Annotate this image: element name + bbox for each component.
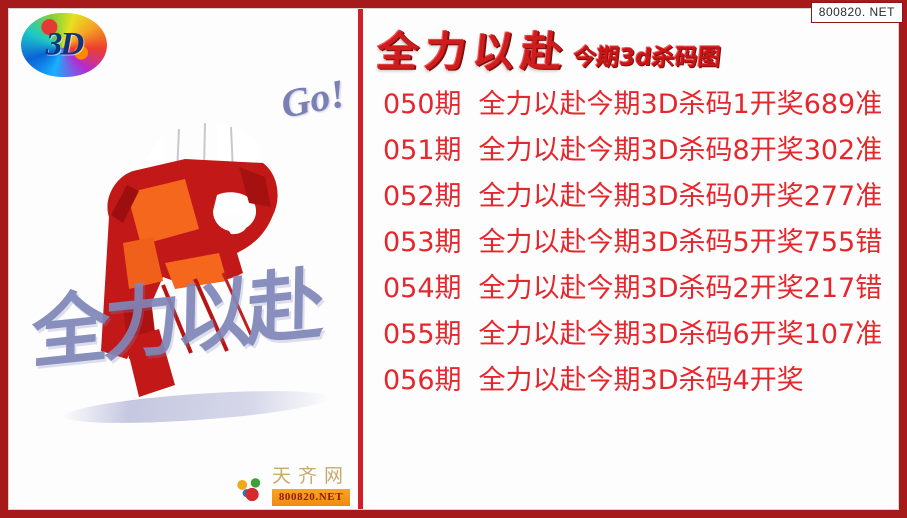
row-period: 053期 (383, 229, 462, 256)
table-row: 051期 全力以赴今期3D杀码8开奖302准 (383, 127, 894, 173)
right-list-panel: 全力以赴 今期3d杀码图 050期 全力以赴今期3D杀码1开奖689准 051期… (363, 9, 898, 509)
table-row: 053期 全力以赴今期3D杀码5开奖755错 (383, 219, 894, 265)
row-period: 051期 (383, 137, 462, 164)
row-description: 全力以赴今期3D杀码8开奖302准 (479, 137, 883, 164)
row-description: 全力以赴今期3D杀码2开奖217错 (479, 275, 883, 302)
row-description: 全力以赴今期3D杀码4开奖 (479, 367, 804, 394)
panel-title: 全力以赴 今期3d杀码图 (377, 15, 892, 73)
row-period: 054期 (383, 275, 462, 302)
site-watermark: 800820. NET (811, 2, 903, 23)
panel-divider (358, 9, 363, 509)
site-name-label: 天齐网 (272, 467, 350, 486)
row-description: 全力以赴今期3D杀码5开奖755错 (479, 229, 883, 256)
row-period: 050期 (383, 91, 462, 118)
title-main-text: 全力以赴 (375, 32, 571, 73)
row-period: 055期 (383, 321, 462, 348)
table-row: 055期 全力以赴今期3D杀码6开奖107准 (383, 311, 894, 357)
tianqi-mascot-icon (231, 470, 265, 504)
poster-canvas: 3D (8, 8, 899, 510)
site-credit: 天齐网 800820.NET (231, 467, 350, 506)
table-row: 050期 全力以赴今期3D杀码1开奖689准 (383, 81, 894, 127)
credit-text-group: 天齐网 800820.NET (272, 467, 350, 506)
lottery-poster: 800820. NET 3D (0, 0, 907, 518)
3d-logo-label: 3D (21, 29, 107, 62)
row-description: 全力以赴今期3D杀码0开奖277准 (479, 183, 883, 210)
table-row: 052期 全力以赴今期3D杀码0开奖277准 (383, 173, 894, 219)
row-period: 052期 (383, 183, 462, 210)
title-sub-text: 今期3d杀码图 (572, 47, 722, 73)
row-period: 056期 (383, 367, 462, 394)
row-description: 全力以赴今期3D杀码6开奖107准 (479, 321, 883, 348)
left-illustration-panel: 3D (9, 9, 358, 509)
table-row: 056期 全力以赴今期3D杀码4开奖 (383, 357, 894, 403)
table-row: 054期 全力以赴今期3D杀码2开奖217错 (383, 265, 894, 311)
site-url-badge: 800820.NET (272, 489, 350, 506)
row-description: 全力以赴今期3D杀码1开奖689准 (479, 91, 883, 118)
result-rows: 050期 全力以赴今期3D杀码1开奖689准 051期 全力以赴今期3D杀码8开… (383, 81, 894, 403)
